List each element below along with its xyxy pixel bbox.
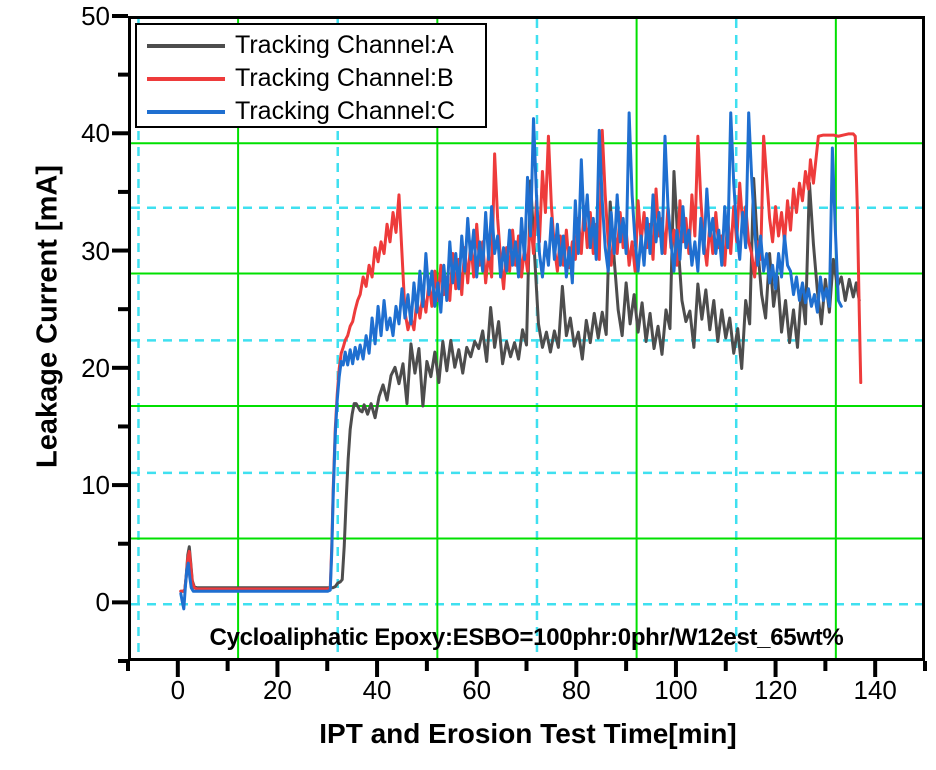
legend: Tracking Channel:ATracking Channel:BTrac… bbox=[135, 23, 487, 128]
y-tick-label: 50 bbox=[50, 3, 110, 29]
legend-label: Tracking Channel:A bbox=[235, 33, 454, 58]
y-tick-label: 10 bbox=[50, 472, 110, 498]
x-tick-label: 60 bbox=[437, 677, 517, 703]
legend-item[interactable]: Tracking Channel:B bbox=[137, 62, 485, 95]
legend-color-swatch bbox=[147, 77, 225, 81]
y-tick-label: 30 bbox=[50, 238, 110, 264]
x-tick-label: 40 bbox=[337, 677, 417, 703]
y-tick-label: 40 bbox=[50, 120, 110, 146]
x-tick-label: 120 bbox=[736, 677, 816, 703]
y-tick-label: 20 bbox=[50, 355, 110, 381]
legend-label: Tracking Channel:C bbox=[235, 99, 455, 124]
y-axis-tick-labels: 01020304050 bbox=[40, 0, 110, 770]
legend-item[interactable]: Tracking Channel:A bbox=[137, 29, 485, 62]
x-tick-label: 80 bbox=[536, 677, 616, 703]
x-tick-label: 140 bbox=[835, 677, 915, 703]
x-tick-label: 0 bbox=[138, 677, 218, 703]
x-tick-label: 100 bbox=[636, 677, 716, 703]
legend-color-swatch bbox=[147, 110, 225, 114]
legend-color-swatch bbox=[147, 44, 225, 48]
y-tick-label: 0 bbox=[50, 589, 110, 615]
annotation-text: Cycloaliphatic Epoxy:ESBO=100phr:0phr/W1… bbox=[128, 624, 925, 652]
chart-figure: Leakage Current [mA] 01020304050 0204060… bbox=[0, 0, 936, 770]
legend-item[interactable]: Tracking Channel:C bbox=[137, 95, 485, 128]
x-axis-title: IPT and Erosion Test Time[min] bbox=[128, 718, 928, 750]
x-tick-label: 20 bbox=[237, 677, 317, 703]
legend-label: Tracking Channel:B bbox=[235, 66, 454, 91]
x-axis-tick-labels: 020406080100120140 bbox=[0, 677, 936, 717]
